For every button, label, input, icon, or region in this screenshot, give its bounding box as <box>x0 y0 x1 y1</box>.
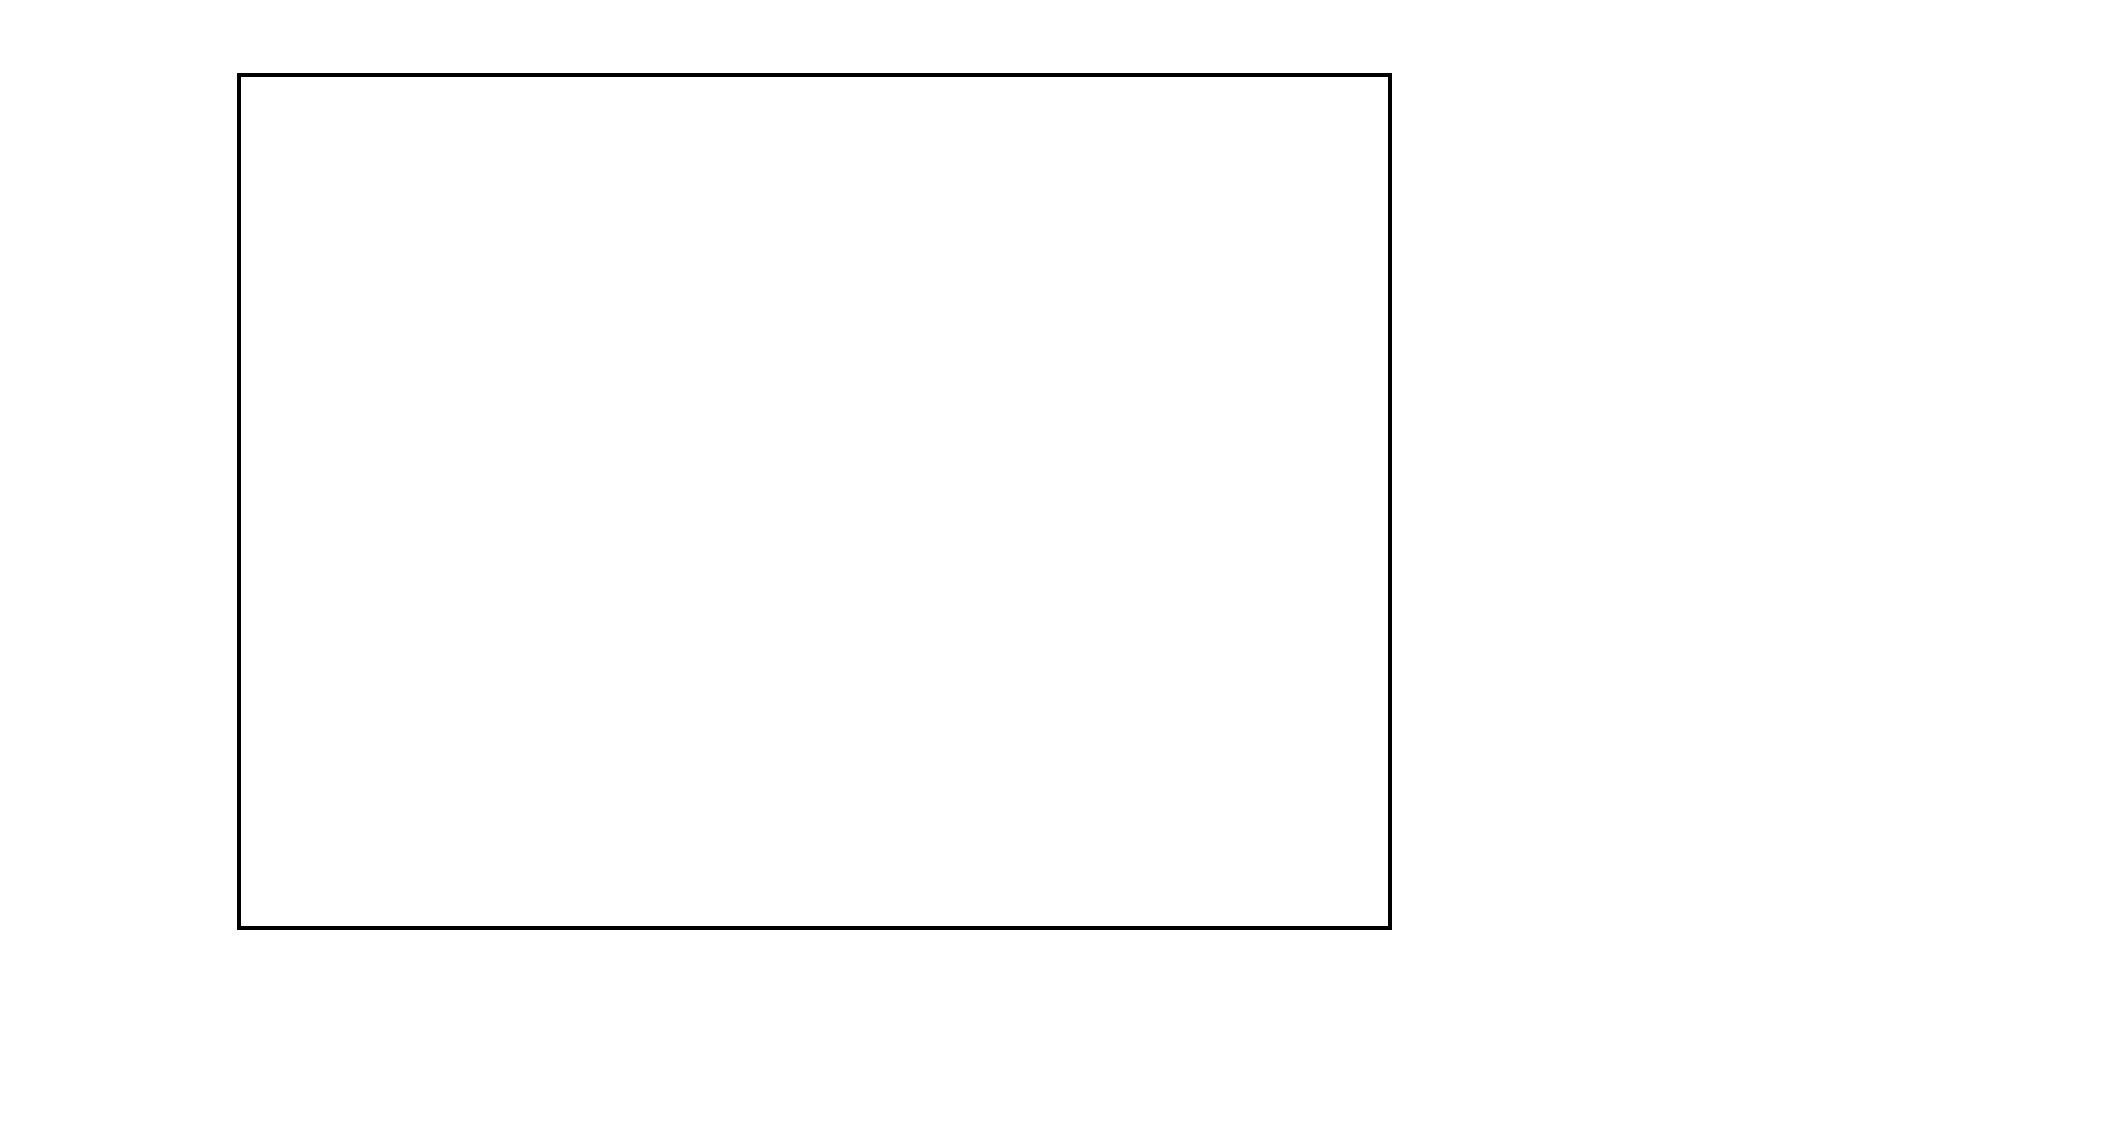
plot-frame <box>237 73 1392 930</box>
y-axis-tick-labels <box>0 0 215 1125</box>
chart-root <box>0 0 2122 1125</box>
